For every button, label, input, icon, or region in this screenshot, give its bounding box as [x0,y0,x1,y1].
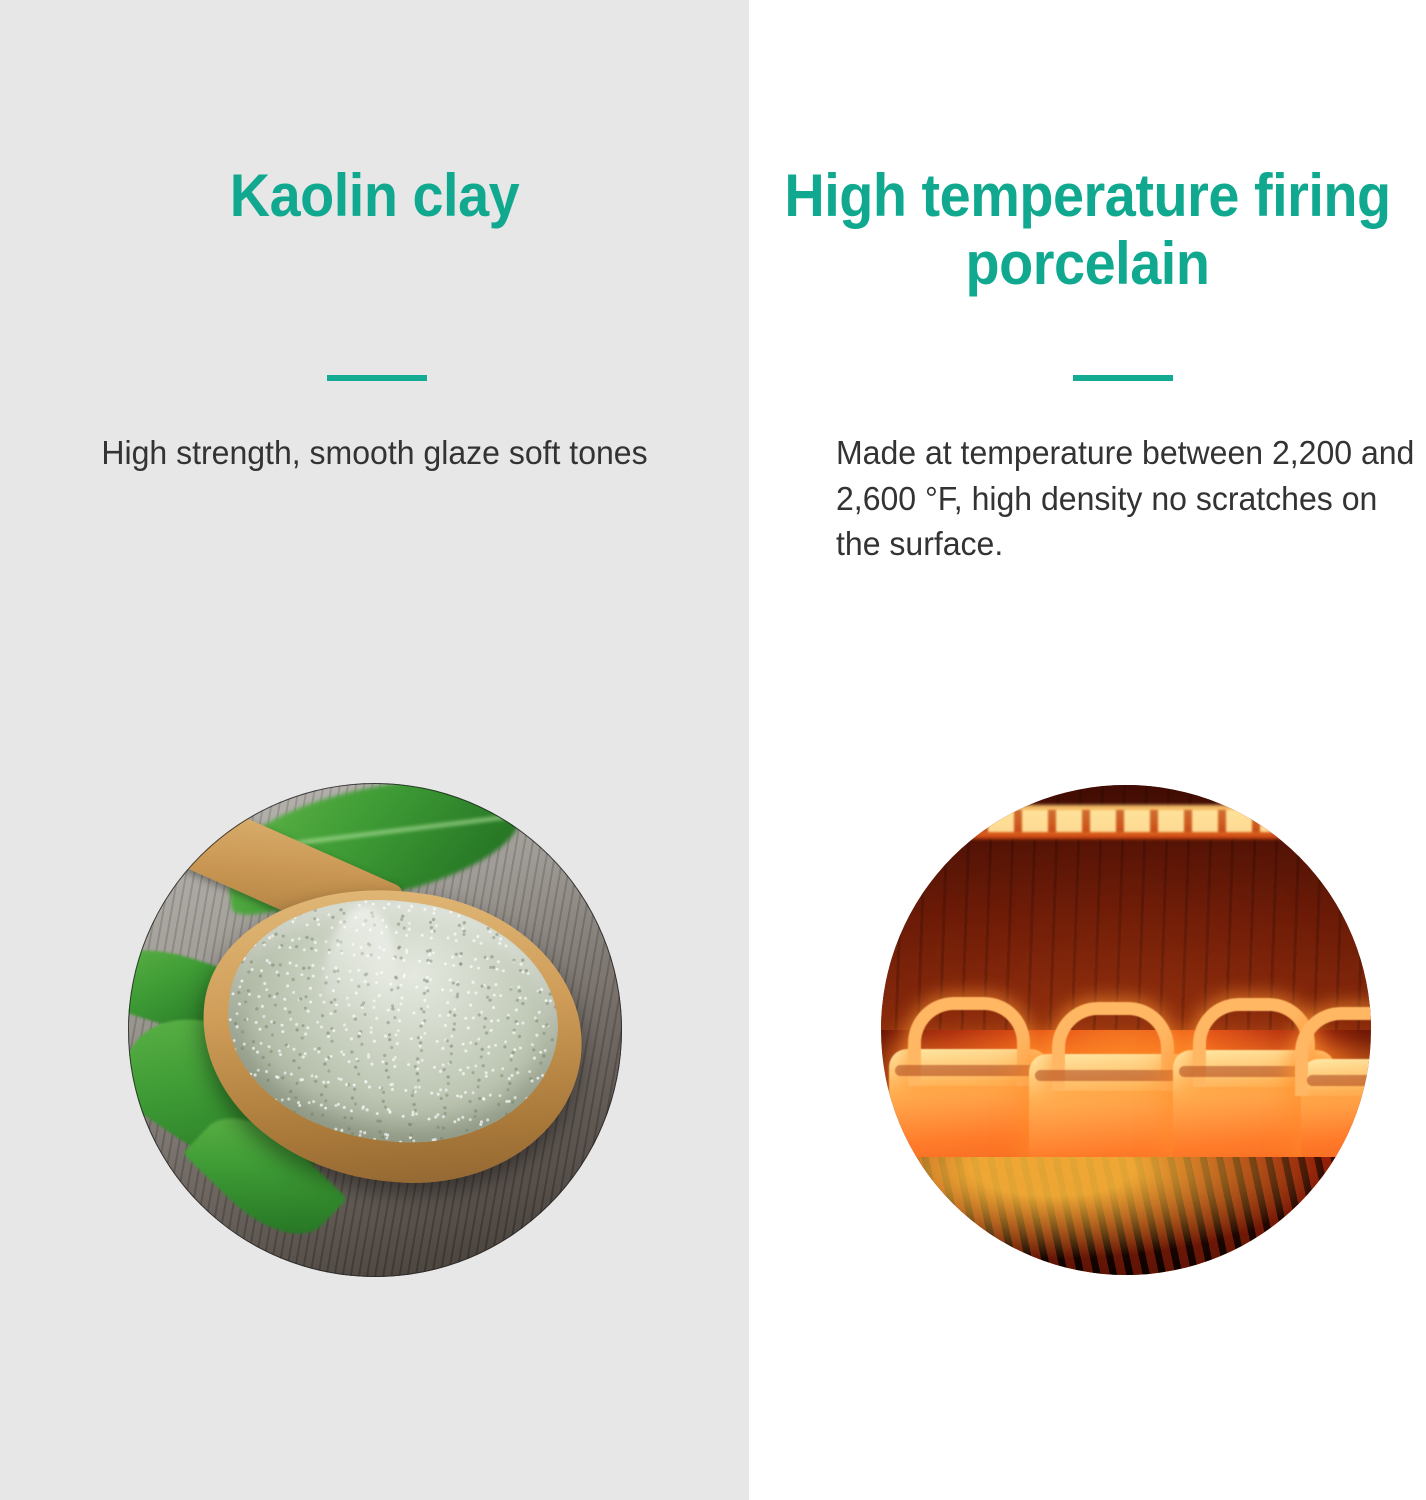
heading-divider-right [1073,375,1173,381]
panel-heading-high-temperature-firing: High temperature firing porcelain [773,162,1403,299]
heading-divider-left [327,375,427,381]
kaolin-clay-illustration [128,783,622,1277]
kaolin-clay-photo [128,783,622,1277]
kiln-firing-photo [881,785,1371,1275]
panel-heading-kaolin-clay: Kaolin clay [26,162,723,230]
panel-kaolin-clay: Kaolin clay High strength, smooth glaze … [0,0,749,1500]
ember-bed [881,1157,1371,1275]
teapot-band-1 [895,1065,1043,1076]
teapot-band-2 [1035,1070,1191,1081]
panel-body-high-temperature-firing: Made at temperature between 2,200 and 2,… [836,430,1418,567]
kiln-brick-row [920,810,1341,832]
panel-body-kaolin-clay: High strength, smooth glaze soft tones [11,430,738,476]
kiln-illustration [881,785,1371,1275]
product-feature-page: Kaolin clay High strength, smooth glaze … [0,0,1426,1500]
panel-high-temperature-firing: High temperature firing porcelain Made a… [749,0,1426,1500]
teapot-band-4 [1307,1075,1371,1086]
